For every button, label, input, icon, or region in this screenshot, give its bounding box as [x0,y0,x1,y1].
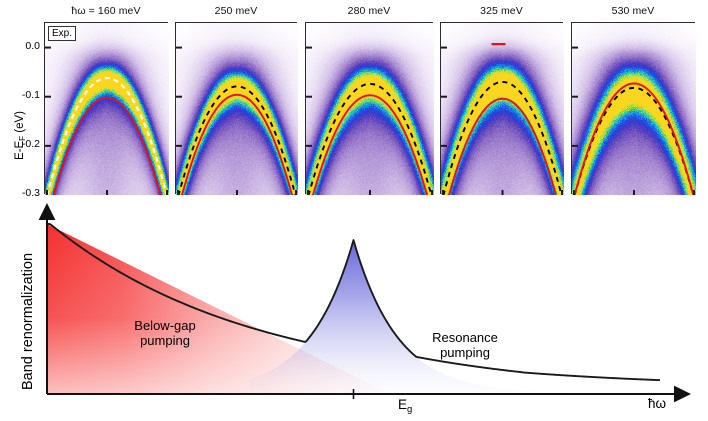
renormalized-band-curve [306,84,434,195]
arpes-yaxis-title: E-EF (eV) [14,111,27,160]
arpes-overlay [176,23,298,195]
equilibrium-band-curve [306,95,434,195]
arpes-overlay [572,23,696,195]
resonance-line1: Resonance [432,330,498,345]
resonance-line2: pumping [440,345,490,360]
eg-axis-label: Eg [398,397,412,415]
arpes-panel-title-280: 280 meV [305,5,433,17]
yaxis-title-unit: (eV) [14,111,26,136]
below-gap-pumping-label: Below-gap pumping [100,318,230,348]
below-gap-line2: pumping [140,333,190,348]
eg-label-subscript: g [407,404,412,415]
arpes-y-tick-label-1: -0.1 [2,89,40,101]
schematic-xaxis-label: ħω [648,396,666,411]
renormalized-band-curve [45,78,168,195]
arpes-y-tick-label-3: -0.3 [2,187,40,199]
eg-label-main: E [398,397,407,412]
schematic-plot: Band renormalization Below-gap pumping R… [0,200,708,421]
equilibrium-band-curve [176,95,298,195]
schematic-svg [0,200,708,421]
arpes-panel-160 [44,22,168,194]
yaxis-title-main: E-E [14,141,26,160]
arpes-panel-title-530: 530 meV [571,5,695,17]
figure-root: ħω = 160 meVExp.250 meV280 meV325 meV530… [0,0,708,421]
arpes-panel-325 [440,22,563,194]
arpes-overlay [306,23,434,195]
equilibrium-band-curve [572,84,695,196]
arpes-panel-title-160: ħω = 160 meV [44,5,168,17]
arpes-panel-530 [571,22,695,194]
exp-label: Exp. [48,26,76,41]
arpes-panel-title-325: 325 meV [440,5,563,17]
arpes-panel-250 [175,22,297,194]
arpes-panel-280 [305,22,433,194]
arpes-panel-title-250: 250 meV [175,5,297,17]
arpes-y-tick-label-0: 0.0 [2,40,40,52]
renormalized-band-curve [176,86,298,195]
yaxis-title-subscript: F [18,136,27,141]
equilibrium-band-curve [441,99,564,195]
arpes-overlay [441,23,564,195]
arpes-overlay [45,23,169,195]
equilibrium-band-curve [45,98,168,195]
schematic-yaxis-label: Band renormalization [20,253,36,390]
resonance-pumping-region [249,241,660,394]
below-gap-line1: Below-gap [134,318,195,333]
resonance-pumping-label: Resonance pumping [395,330,535,360]
